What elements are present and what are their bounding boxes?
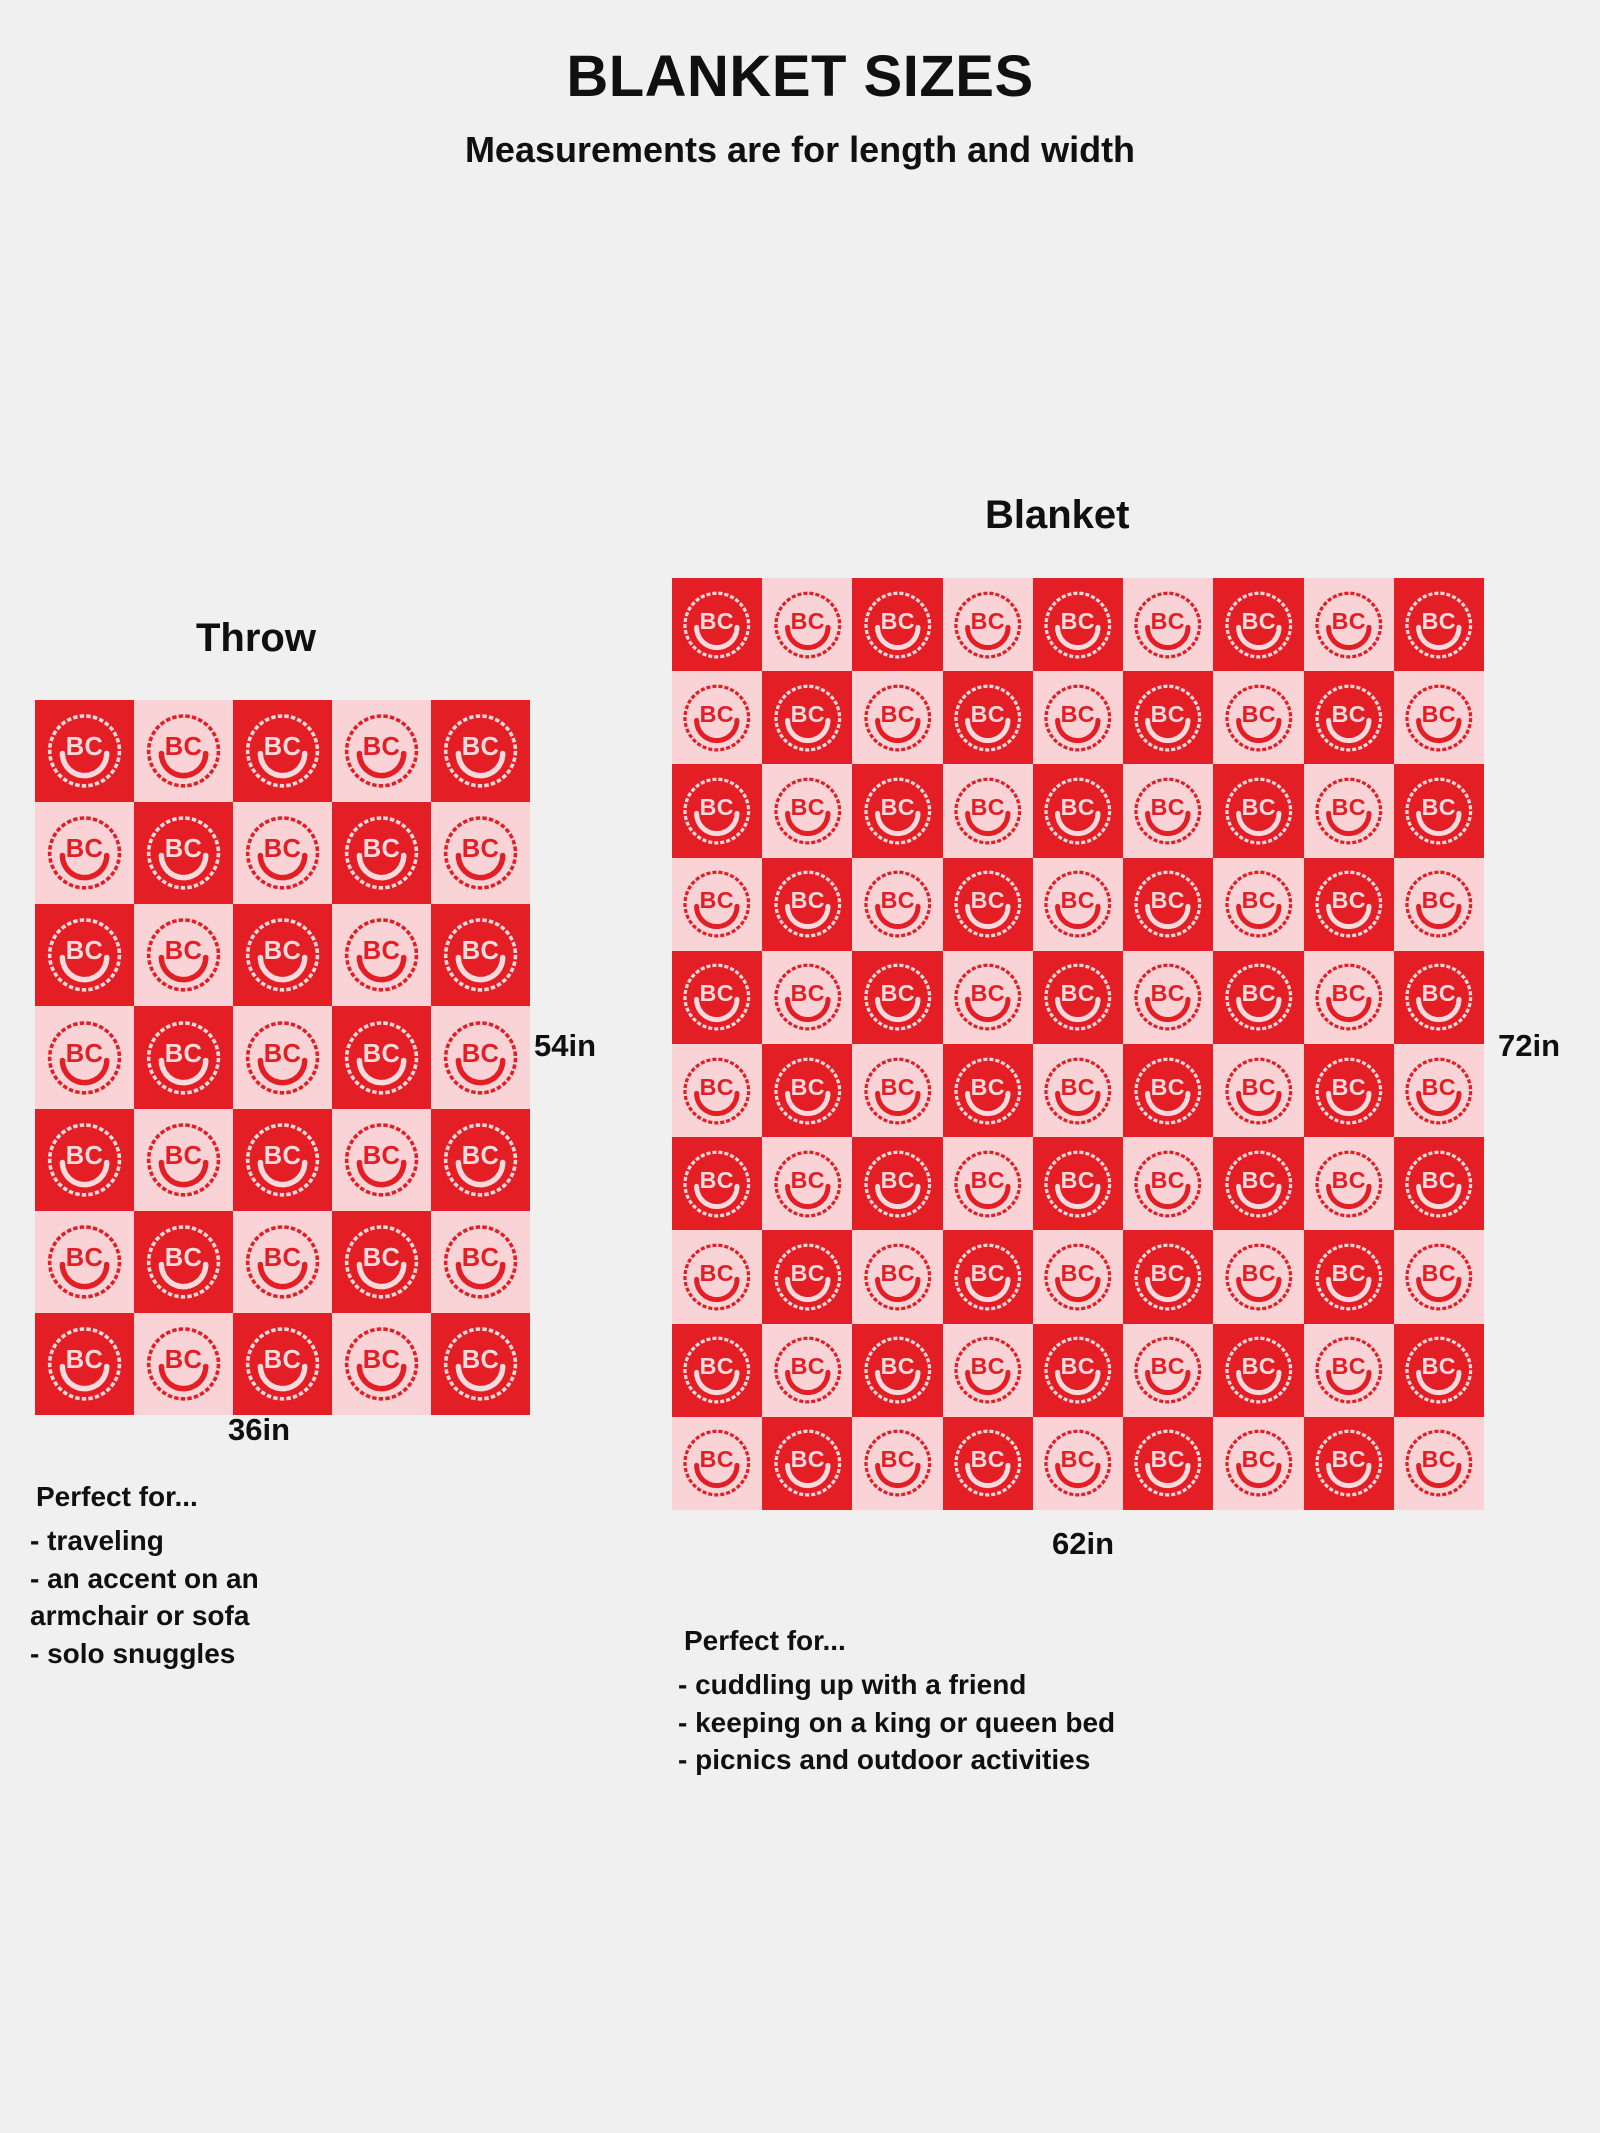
blanket-cell: BC bbox=[1213, 951, 1303, 1044]
throw-cell: BC bbox=[332, 1109, 431, 1211]
throw-height-dimension: 54in bbox=[534, 1030, 596, 1061]
svg-text:BC: BC bbox=[1061, 1073, 1095, 1099]
smiley-face-icon: BC bbox=[949, 957, 1027, 1037]
throw-cell: BC bbox=[431, 1313, 530, 1415]
smiley-face-icon: BC bbox=[42, 809, 127, 897]
smiley-face-icon: BC bbox=[859, 771, 937, 851]
svg-text:BC: BC bbox=[971, 1073, 1005, 1099]
blanket-cell: BC bbox=[943, 1417, 1033, 1510]
smiley-face-icon: BC bbox=[1129, 678, 1207, 758]
throw-cell: BC bbox=[134, 700, 233, 802]
smiley-face-icon: BC bbox=[42, 1320, 127, 1408]
smiley-face-icon: BC bbox=[42, 1116, 127, 1204]
blanket-swatch: BCBCBCBCBCBCBCBCBCBCBCBCBCBCBCBCBCBCBCBC… bbox=[672, 578, 1484, 1510]
svg-text:BC: BC bbox=[880, 887, 914, 913]
svg-text:BC: BC bbox=[165, 1244, 203, 1272]
smiley-face-icon: BC bbox=[859, 1330, 937, 1410]
throw-cell: BC bbox=[431, 1211, 530, 1313]
blanket-cell: BC bbox=[852, 1417, 942, 1510]
blanket-cell: BC bbox=[1394, 951, 1484, 1044]
svg-text:BC: BC bbox=[790, 1446, 824, 1472]
smiley-face-icon: BC bbox=[678, 1330, 756, 1410]
blanket-cell: BC bbox=[1123, 1417, 1213, 1510]
svg-text:BC: BC bbox=[700, 794, 734, 820]
svg-text:BC: BC bbox=[1061, 887, 1095, 913]
blanket-cell: BC bbox=[762, 1137, 852, 1230]
blanket-cell: BC bbox=[1304, 1044, 1394, 1137]
blanket-cell: BC bbox=[1213, 1230, 1303, 1323]
svg-text:BC: BC bbox=[462, 1244, 500, 1272]
smiley-face-icon: BC bbox=[339, 1218, 424, 1306]
svg-text:BC: BC bbox=[1061, 1353, 1095, 1379]
throw-cell: BC bbox=[332, 1006, 431, 1108]
svg-text:BC: BC bbox=[1151, 1073, 1185, 1099]
svg-text:BC: BC bbox=[165, 733, 203, 761]
svg-text:BC: BC bbox=[971, 1167, 1005, 1193]
svg-text:BC: BC bbox=[1422, 794, 1456, 820]
svg-text:BC: BC bbox=[1422, 887, 1456, 913]
svg-text:BC: BC bbox=[264, 835, 302, 863]
blanket-cell: BC bbox=[1304, 1137, 1394, 1230]
svg-text:BC: BC bbox=[880, 701, 914, 727]
svg-text:BC: BC bbox=[165, 1142, 203, 1170]
svg-text:BC: BC bbox=[1422, 607, 1456, 633]
smiley-face-icon: BC bbox=[678, 957, 756, 1037]
blanket-cell: BC bbox=[1304, 578, 1394, 671]
smiley-face-icon: BC bbox=[1400, 1237, 1478, 1317]
blanket-cell: BC bbox=[762, 578, 852, 671]
smiley-face-icon: BC bbox=[141, 809, 226, 897]
smiley-face-icon: BC bbox=[240, 1116, 325, 1204]
blanket-cell: BC bbox=[1213, 1044, 1303, 1137]
smiley-face-icon: BC bbox=[859, 864, 937, 944]
throw-cell: BC bbox=[134, 802, 233, 904]
blanket-perfect-for-list: - cuddling up with a friend- keeping on … bbox=[678, 1666, 1318, 1779]
smiley-face-icon: BC bbox=[1220, 771, 1298, 851]
smiley-face-icon: BC bbox=[339, 707, 424, 795]
svg-text:BC: BC bbox=[1422, 701, 1456, 727]
smiley-face-icon: BC bbox=[1220, 1423, 1298, 1503]
smiley-face-icon: BC bbox=[769, 1330, 847, 1410]
smiley-face-icon: BC bbox=[678, 1423, 756, 1503]
throw-width-dimension: 36in bbox=[228, 1414, 290, 1445]
smiley-face-icon: BC bbox=[240, 707, 325, 795]
svg-text:BC: BC bbox=[1331, 607, 1365, 633]
svg-text:BC: BC bbox=[264, 938, 302, 966]
throw-cell: BC bbox=[233, 1109, 332, 1211]
svg-text:BC: BC bbox=[971, 701, 1005, 727]
blanket-perfect-for-item: - picnics and outdoor activities bbox=[678, 1741, 1318, 1779]
svg-text:BC: BC bbox=[462, 1346, 500, 1374]
smiley-face-icon: BC bbox=[1400, 864, 1478, 944]
blanket-cell: BC bbox=[852, 1324, 942, 1417]
svg-text:BC: BC bbox=[700, 887, 734, 913]
throw-cell: BC bbox=[134, 1313, 233, 1415]
svg-text:BC: BC bbox=[880, 1446, 914, 1472]
smiley-face-icon: BC bbox=[1220, 585, 1298, 665]
throw-cell: BC bbox=[332, 1211, 431, 1313]
smiley-face-icon: BC bbox=[949, 1051, 1027, 1131]
blanket-cell: BC bbox=[852, 671, 942, 764]
smiley-face-icon: BC bbox=[438, 1116, 523, 1204]
smiley-face-icon: BC bbox=[1310, 1423, 1388, 1503]
blanket-cell: BC bbox=[1213, 1417, 1303, 1510]
svg-text:BC: BC bbox=[363, 1346, 401, 1374]
svg-text:BC: BC bbox=[971, 1446, 1005, 1472]
throw-cell: BC bbox=[332, 802, 431, 904]
throw-cell: BC bbox=[233, 1211, 332, 1313]
smiley-face-icon: BC bbox=[1129, 1423, 1207, 1503]
blanket-cell: BC bbox=[1033, 764, 1123, 857]
svg-text:BC: BC bbox=[1061, 1167, 1095, 1193]
blanket-cell: BC bbox=[852, 858, 942, 951]
svg-text:BC: BC bbox=[1151, 701, 1185, 727]
blanket-cell: BC bbox=[1304, 671, 1394, 764]
smiley-face-icon: BC bbox=[339, 1014, 424, 1102]
blanket-cell: BC bbox=[943, 1137, 1033, 1230]
smiley-face-icon: BC bbox=[678, 1237, 756, 1317]
smiley-face-icon: BC bbox=[1220, 1237, 1298, 1317]
svg-text:BC: BC bbox=[462, 733, 500, 761]
svg-text:BC: BC bbox=[1151, 980, 1185, 1006]
blanket-cell: BC bbox=[1394, 671, 1484, 764]
svg-text:BC: BC bbox=[700, 701, 734, 727]
blanket-cell: BC bbox=[943, 578, 1033, 671]
throw-perfect-for-item: - solo snuggles bbox=[30, 1635, 390, 1673]
blanket-cell: BC bbox=[762, 858, 852, 951]
svg-text:BC: BC bbox=[1151, 1446, 1185, 1472]
svg-text:BC: BC bbox=[880, 1073, 914, 1099]
svg-text:BC: BC bbox=[700, 1260, 734, 1286]
svg-text:BC: BC bbox=[264, 1244, 302, 1272]
smiley-face-icon: BC bbox=[1039, 1423, 1117, 1503]
throw-cell: BC bbox=[35, 1313, 134, 1415]
smiley-face-icon: BC bbox=[42, 1014, 127, 1102]
blanket-cell: BC bbox=[762, 951, 852, 1044]
smiley-face-icon: BC bbox=[1400, 957, 1478, 1037]
smiley-face-icon: BC bbox=[438, 707, 523, 795]
svg-text:BC: BC bbox=[66, 1040, 104, 1068]
blanket-cell: BC bbox=[852, 578, 942, 671]
smiley-face-icon: BC bbox=[1400, 1051, 1478, 1131]
smiley-face-icon: BC bbox=[1310, 1237, 1388, 1317]
throw-perfect-for-item: armchair or sofa bbox=[30, 1597, 390, 1635]
blanket-cell: BC bbox=[762, 1230, 852, 1323]
blanket-cell: BC bbox=[1123, 578, 1213, 671]
svg-text:BC: BC bbox=[66, 733, 104, 761]
svg-text:BC: BC bbox=[165, 835, 203, 863]
svg-text:BC: BC bbox=[462, 1142, 500, 1170]
smiley-face-icon: BC bbox=[1039, 678, 1117, 758]
smiley-face-icon: BC bbox=[141, 1014, 226, 1102]
smiley-face-icon: BC bbox=[859, 957, 937, 1037]
blanket-cell: BC bbox=[1213, 858, 1303, 951]
blanket-cell: BC bbox=[943, 1044, 1033, 1137]
smiley-face-icon: BC bbox=[769, 1144, 847, 1224]
throw-cell: BC bbox=[134, 1109, 233, 1211]
svg-text:BC: BC bbox=[790, 1353, 824, 1379]
blanket-width-dimension: 62in bbox=[1052, 1528, 1114, 1559]
throw-cell: BC bbox=[233, 904, 332, 1006]
blanket-cell: BC bbox=[1213, 578, 1303, 671]
smiley-face-icon: BC bbox=[141, 1218, 226, 1306]
throw-cell: BC bbox=[35, 1211, 134, 1313]
blanket-cell: BC bbox=[1033, 1417, 1123, 1510]
blanket-perfect-for-item: - cuddling up with a friend bbox=[678, 1666, 1318, 1704]
throw-cell: BC bbox=[35, 802, 134, 904]
blanket-cell: BC bbox=[1033, 578, 1123, 671]
blanket-cell: BC bbox=[762, 671, 852, 764]
blanket-cell: BC bbox=[1213, 764, 1303, 857]
svg-text:BC: BC bbox=[1151, 1260, 1185, 1286]
svg-text:BC: BC bbox=[165, 1040, 203, 1068]
smiley-face-icon: BC bbox=[1220, 678, 1298, 758]
smiley-face-icon: BC bbox=[1039, 1237, 1117, 1317]
svg-text:BC: BC bbox=[790, 701, 824, 727]
blanket-cell: BC bbox=[1123, 1324, 1213, 1417]
throw-cell: BC bbox=[233, 700, 332, 802]
svg-text:BC: BC bbox=[66, 835, 104, 863]
blanket-cell: BC bbox=[1033, 858, 1123, 951]
blanket-cell: BC bbox=[672, 764, 762, 857]
blanket-cell: BC bbox=[1394, 578, 1484, 671]
smiley-face-icon: BC bbox=[1039, 1051, 1117, 1131]
svg-text:BC: BC bbox=[1151, 1353, 1185, 1379]
svg-text:BC: BC bbox=[363, 938, 401, 966]
smiley-face-icon: BC bbox=[1400, 678, 1478, 758]
svg-text:BC: BC bbox=[1241, 701, 1275, 727]
smiley-face-icon: BC bbox=[1310, 1051, 1388, 1131]
throw-perfect-for-block: Perfect for... - traveling- an accent on… bbox=[30, 1478, 390, 1673]
svg-text:BC: BC bbox=[363, 1142, 401, 1170]
blanket-cell: BC bbox=[943, 1230, 1033, 1323]
svg-text:BC: BC bbox=[1331, 794, 1365, 820]
blanket-cell: BC bbox=[1304, 764, 1394, 857]
smiley-face-icon: BC bbox=[1129, 771, 1207, 851]
svg-text:BC: BC bbox=[700, 1446, 734, 1472]
svg-text:BC: BC bbox=[1241, 607, 1275, 633]
smiley-face-icon: BC bbox=[1310, 864, 1388, 944]
blanket-cell: BC bbox=[1304, 951, 1394, 1044]
blanket-cell: BC bbox=[852, 764, 942, 857]
page-subtitle: Measurements are for length and width bbox=[0, 132, 1600, 168]
smiley-face-icon: BC bbox=[949, 864, 1027, 944]
blanket-cell: BC bbox=[852, 1230, 942, 1323]
smiley-face-icon: BC bbox=[1129, 864, 1207, 944]
throw-cell: BC bbox=[332, 700, 431, 802]
blanket-cell: BC bbox=[1123, 1044, 1213, 1137]
throw-cell: BC bbox=[35, 1006, 134, 1108]
svg-text:BC: BC bbox=[462, 938, 500, 966]
smiley-face-icon: BC bbox=[141, 707, 226, 795]
blanket-cell: BC bbox=[672, 858, 762, 951]
smiley-face-icon: BC bbox=[949, 1423, 1027, 1503]
svg-text:BC: BC bbox=[790, 980, 824, 1006]
svg-text:BC: BC bbox=[363, 1040, 401, 1068]
throw-cell: BC bbox=[431, 802, 530, 904]
blanket-cell: BC bbox=[1033, 951, 1123, 1044]
smiley-face-icon: BC bbox=[339, 809, 424, 897]
throw-cell: BC bbox=[431, 1109, 530, 1211]
smiley-face-icon: BC bbox=[859, 1051, 937, 1131]
svg-text:BC: BC bbox=[1422, 1260, 1456, 1286]
smiley-face-icon: BC bbox=[1400, 771, 1478, 851]
smiley-face-icon: BC bbox=[1220, 1330, 1298, 1410]
smiley-face-icon: BC bbox=[1400, 1144, 1478, 1224]
smiley-face-icon: BC bbox=[1310, 1330, 1388, 1410]
svg-text:BC: BC bbox=[971, 887, 1005, 913]
blanket-cell: BC bbox=[1123, 951, 1213, 1044]
blanket-cell: BC bbox=[762, 1417, 852, 1510]
svg-text:BC: BC bbox=[1061, 794, 1095, 820]
smiley-face-icon: BC bbox=[1039, 771, 1117, 851]
smiley-face-icon: BC bbox=[42, 911, 127, 999]
throw-perfect-for-item: - an accent on an bbox=[30, 1560, 390, 1598]
svg-text:BC: BC bbox=[66, 1346, 104, 1374]
smiley-face-icon: BC bbox=[859, 585, 937, 665]
blanket-cell: BC bbox=[943, 764, 1033, 857]
smiley-face-icon: BC bbox=[769, 1237, 847, 1317]
smiley-face-icon: BC bbox=[240, 1014, 325, 1102]
smiley-face-icon: BC bbox=[1220, 864, 1298, 944]
throw-perfect-for-item: - traveling bbox=[30, 1522, 390, 1560]
smiley-face-icon: BC bbox=[949, 1144, 1027, 1224]
blanket-cell: BC bbox=[672, 1230, 762, 1323]
svg-text:BC: BC bbox=[700, 1353, 734, 1379]
svg-text:BC: BC bbox=[264, 1142, 302, 1170]
blanket-cell: BC bbox=[1394, 1137, 1484, 1230]
svg-text:BC: BC bbox=[264, 1346, 302, 1374]
svg-text:BC: BC bbox=[700, 607, 734, 633]
throw-cell: BC bbox=[134, 1211, 233, 1313]
smiley-face-icon: BC bbox=[678, 864, 756, 944]
svg-text:BC: BC bbox=[880, 980, 914, 1006]
blanket-cell: BC bbox=[1033, 1230, 1123, 1323]
svg-text:BC: BC bbox=[1151, 794, 1185, 820]
blanket-cell: BC bbox=[672, 951, 762, 1044]
blanket-cell: BC bbox=[943, 858, 1033, 951]
svg-text:BC: BC bbox=[700, 980, 734, 1006]
svg-text:BC: BC bbox=[462, 835, 500, 863]
svg-text:BC: BC bbox=[1331, 701, 1365, 727]
svg-text:BC: BC bbox=[880, 1260, 914, 1286]
throw-cell: BC bbox=[332, 904, 431, 1006]
blanket-cell: BC bbox=[943, 951, 1033, 1044]
blanket-cell: BC bbox=[1394, 1230, 1484, 1323]
smiley-face-icon: BC bbox=[1220, 1144, 1298, 1224]
svg-text:BC: BC bbox=[1061, 607, 1095, 633]
blanket-cell: BC bbox=[672, 671, 762, 764]
smiley-face-icon: BC bbox=[339, 911, 424, 999]
smiley-face-icon: BC bbox=[42, 1218, 127, 1306]
smiley-face-icon: BC bbox=[1310, 1144, 1388, 1224]
svg-text:BC: BC bbox=[1331, 1353, 1365, 1379]
blanket-cell: BC bbox=[1394, 858, 1484, 951]
smiley-face-icon: BC bbox=[1310, 585, 1388, 665]
smiley-face-icon: BC bbox=[949, 585, 1027, 665]
svg-text:BC: BC bbox=[1422, 1167, 1456, 1193]
smiley-face-icon: BC bbox=[1400, 585, 1478, 665]
throw-cell: BC bbox=[134, 1006, 233, 1108]
page-title: BLANKET SIZES bbox=[0, 48, 1600, 106]
blanket-cell: BC bbox=[1213, 1324, 1303, 1417]
blanket-cell: BC bbox=[1123, 1137, 1213, 1230]
svg-text:BC: BC bbox=[264, 733, 302, 761]
blanket-cell: BC bbox=[1304, 1230, 1394, 1323]
smiley-face-icon: BC bbox=[859, 1423, 937, 1503]
smiley-face-icon: BC bbox=[240, 809, 325, 897]
blanket-cell: BC bbox=[852, 1044, 942, 1137]
throw-cell: BC bbox=[233, 1006, 332, 1108]
throw-cell: BC bbox=[431, 1006, 530, 1108]
blanket-cell: BC bbox=[672, 1324, 762, 1417]
smiley-face-icon: BC bbox=[859, 678, 937, 758]
svg-text:BC: BC bbox=[66, 1244, 104, 1272]
blanket-cell: BC bbox=[1394, 1324, 1484, 1417]
svg-text:BC: BC bbox=[700, 1167, 734, 1193]
smiley-face-icon: BC bbox=[438, 1218, 523, 1306]
blanket-cell: BC bbox=[1213, 671, 1303, 764]
svg-text:BC: BC bbox=[1151, 607, 1185, 633]
smiley-face-icon: BC bbox=[949, 1330, 1027, 1410]
blanket-cell: BC bbox=[1123, 764, 1213, 857]
svg-text:BC: BC bbox=[1422, 980, 1456, 1006]
svg-text:BC: BC bbox=[1331, 1446, 1365, 1472]
blanket-cell: BC bbox=[943, 1324, 1033, 1417]
svg-text:BC: BC bbox=[971, 607, 1005, 633]
blanket-perfect-for-block: Perfect for... - cuddling up with a frie… bbox=[678, 1622, 1318, 1779]
svg-text:BC: BC bbox=[1061, 701, 1095, 727]
svg-text:BC: BC bbox=[1151, 887, 1185, 913]
svg-text:BC: BC bbox=[363, 835, 401, 863]
smiley-face-icon: BC bbox=[678, 585, 756, 665]
svg-text:BC: BC bbox=[1241, 1353, 1275, 1379]
smiley-face-icon: BC bbox=[1310, 678, 1388, 758]
smiley-face-icon: BC bbox=[1129, 585, 1207, 665]
blanket-cell: BC bbox=[943, 671, 1033, 764]
smiley-face-icon: BC bbox=[438, 1014, 523, 1102]
svg-text:BC: BC bbox=[165, 938, 203, 966]
smiley-face-icon: BC bbox=[769, 678, 847, 758]
svg-text:BC: BC bbox=[790, 607, 824, 633]
blanket-cell: BC bbox=[852, 1137, 942, 1230]
svg-text:BC: BC bbox=[1331, 1260, 1365, 1286]
blanket-cell: BC bbox=[672, 1417, 762, 1510]
blanket-cell: BC bbox=[1123, 858, 1213, 951]
svg-text:BC: BC bbox=[790, 794, 824, 820]
smiley-face-icon: BC bbox=[339, 1320, 424, 1408]
smiley-face-icon: BC bbox=[1129, 1051, 1207, 1131]
svg-text:BC: BC bbox=[363, 1244, 401, 1272]
smiley-face-icon: BC bbox=[1310, 771, 1388, 851]
smiley-face-icon: BC bbox=[678, 1144, 756, 1224]
svg-text:BC: BC bbox=[1422, 1446, 1456, 1472]
svg-text:BC: BC bbox=[363, 733, 401, 761]
smiley-face-icon: BC bbox=[438, 1320, 523, 1408]
blanket-cell: BC bbox=[1033, 1044, 1123, 1137]
svg-text:BC: BC bbox=[1331, 887, 1365, 913]
smiley-face-icon: BC bbox=[240, 1218, 325, 1306]
blanket-cell: BC bbox=[1394, 1417, 1484, 1510]
svg-text:BC: BC bbox=[880, 794, 914, 820]
svg-text:BC: BC bbox=[700, 1073, 734, 1099]
blanket-cell: BC bbox=[1213, 1137, 1303, 1230]
throw-section-label: Throw bbox=[196, 618, 316, 658]
smiley-face-icon: BC bbox=[1039, 957, 1117, 1037]
smiley-face-icon: BC bbox=[1220, 957, 1298, 1037]
svg-text:BC: BC bbox=[1241, 794, 1275, 820]
smiley-face-icon: BC bbox=[1039, 1330, 1117, 1410]
